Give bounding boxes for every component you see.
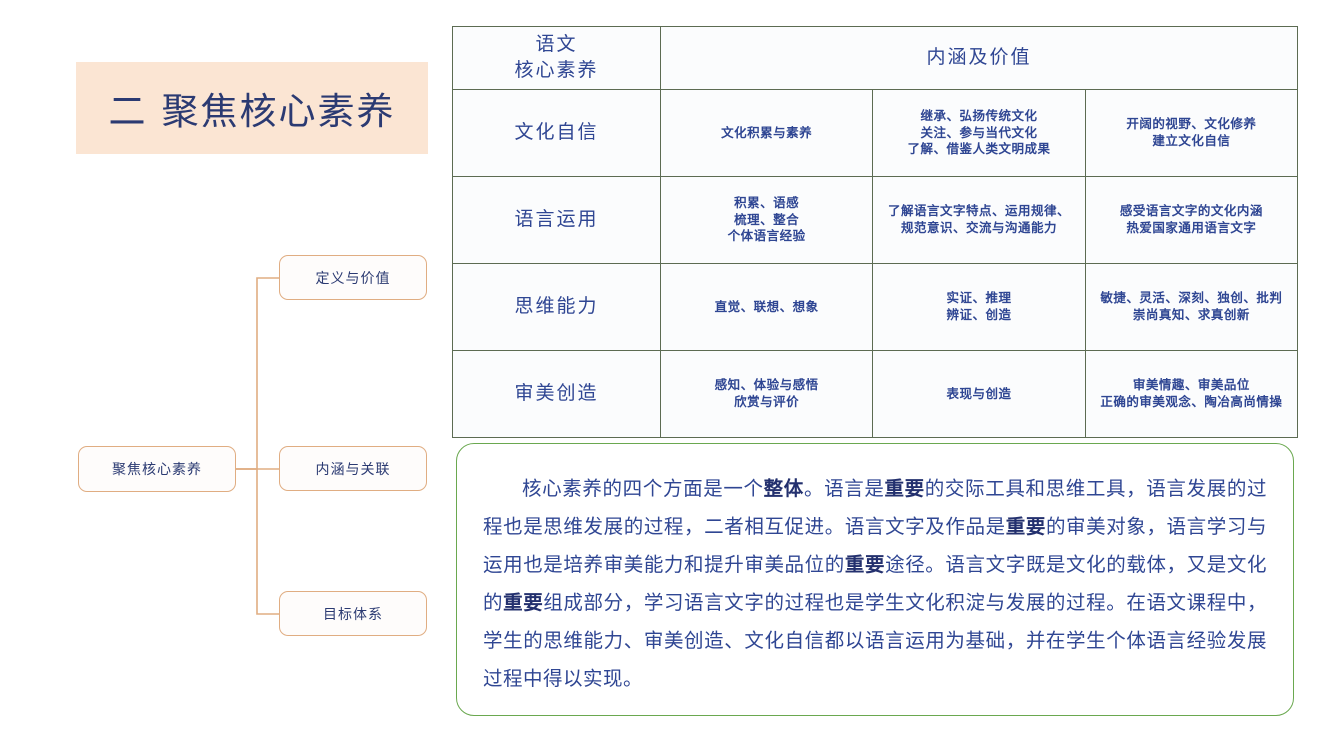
table-header-name-cell: 语文 核心素养 [453,27,661,90]
mindmap-root-node[interactable]: 聚焦核心素养 [78,446,236,492]
summary-paragraph: 核心素养的四个方面是一个整体。语言是重要的交际工具和思维工具，语言发展的过程也是… [483,470,1267,698]
table-cell-aspect-c: 审美情趣、审美品位 正确的审美观念、陶冶高尚情操 [1085,351,1297,438]
cell-line: 敏捷、灵活、深刻、独创、批判 [1092,290,1291,307]
table-cell-literacy-name: 语言运用 [453,177,661,264]
connector-to-definition [236,278,279,469]
cell-line: 个体语言经验 [667,228,866,245]
mindmap-node-goal-system[interactable]: 目标体系 [279,591,427,636]
table-cell-aspect-a: 感知、体验与感悟 欣赏与评价 [661,351,873,438]
mindmap-node-label: 定义与价值 [316,268,391,288]
page-title: 二聚焦核心素养 [109,81,396,135]
table-header-name-lines: 语文 核心素养 [459,32,654,83]
cell-line: 继承、弘扬传统文化 [879,108,1078,125]
cell-line: 建立文化自信 [1092,133,1291,150]
table-body: 语文 核心素养 内涵及价值 文化自信 文化积累与素养 继承、弘扬传统文化 关注、… [453,27,1298,438]
mindmap-node-label: 内涵与关联 [316,459,391,479]
summary-emphasis: 整体 [764,478,804,500]
table-cell-aspect-c: 感受语言文字的文化内涵 热爱国家通用语言文字 [1085,177,1297,264]
connector-to-goals [236,469,279,614]
table-header-row: 语文 核心素养 内涵及价值 [453,27,1298,90]
table-cell-aspect-a: 文化积累与素养 [661,90,873,177]
cell-line: 感知、体验与感悟 [667,377,866,394]
summary-segment: 。语言是 [804,478,885,500]
table-cell-aspect-b: 实证、推理 辨证、创造 [873,264,1085,351]
table-cell-aspect-b: 表现与创造 [873,351,1085,438]
core-literacy-table: 语文 核心素养 内涵及价值 文化自信 文化积累与素养 继承、弘扬传统文化 关注、… [452,26,1298,438]
cell-line: 直觉、联想、想象 [667,299,866,316]
mindmap: 聚焦核心素养 定义与价值 内涵与关联 目标体系 [60,230,460,670]
cell-line: 正确的审美观念、陶冶高尚情操 [1092,394,1291,411]
mindmap-node-connotation[interactable]: 内涵与关联 [279,446,427,491]
cell-line: 崇尚真知、求真创新 [1092,307,1291,324]
cell-line: 积累、语感 [667,195,866,212]
table-header-value-cell: 内涵及价值 [661,27,1298,90]
section-title-banner: 二聚焦核心素养 [76,62,428,154]
cell-line: 热爱国家通用语言文字 [1092,220,1291,237]
table-cell-literacy-name: 思维能力 [453,264,661,351]
cell-line: 表现与创造 [879,386,1078,403]
cell-line: 了解、借鉴人类文明成果 [879,141,1078,158]
table-header-name-line: 语文 [459,32,654,58]
table-header-name-line: 核心素养 [459,58,654,84]
table-cell-aspect-b: 了解语言文字特点、运用规律、 规范意识、交流与沟通能力 [873,177,1085,264]
cell-line: 审美情趣、审美品位 [1092,377,1291,394]
cell-line: 感受语言文字的文化内涵 [1092,203,1291,220]
table-cell-aspect-b: 继承、弘扬传统文化 关注、参与当代文化 了解、借鉴人类文明成果 [873,90,1085,177]
cell-line: 文化积累与素养 [667,125,866,142]
cell-line: 辨证、创造 [879,307,1078,324]
section-title-text: 聚焦核心素养 [162,91,396,132]
summary-emphasis: 重要 [845,554,885,576]
cell-line: 关注、参与当代文化 [879,125,1078,142]
table-cell-aspect-a: 直觉、联想、想象 [661,264,873,351]
table-row: 语言运用 积累、语感 梳理、整合 个体语言经验 了解语言文字特点、运用规律、 规… [453,177,1298,264]
summary-emphasis: 重要 [885,478,925,500]
cell-line: 了解语言文字特点、运用规律、 [879,203,1078,220]
table-cell-aspect-a: 积累、语感 梳理、整合 个体语言经验 [661,177,873,264]
table-cell-aspect-c: 开阔的视野、文化修养 建立文化自信 [1085,90,1297,177]
mindmap-root-label: 聚焦核心素养 [112,459,202,479]
summary-callout-box: 核心素养的四个方面是一个整体。语言是重要的交际工具和思维工具，语言发展的过程也是… [456,443,1294,716]
table-row: 文化自信 文化积累与素养 继承、弘扬传统文化 关注、参与当代文化 了解、借鉴人类… [453,90,1298,177]
table-cell-literacy-name: 文化自信 [453,90,661,177]
cell-line: 梳理、整合 [667,212,866,229]
cell-line: 规范意识、交流与沟通能力 [879,220,1078,237]
cell-line: 实证、推理 [879,290,1078,307]
summary-segment: 组成部分，学习语言文字的过程也是学生文化积淀与发展的过程。在语文课程中，学生的思… [483,592,1267,690]
summary-emphasis: 重要 [1006,516,1046,538]
cell-line: 欣赏与评价 [667,394,866,411]
mindmap-node-definition[interactable]: 定义与价值 [279,255,427,300]
table-cell-literacy-name: 审美创造 [453,351,661,438]
table-row: 思维能力 直觉、联想、想象 实证、推理 辨证、创造 敏捷、灵活、深刻、独创、批判… [453,264,1298,351]
mindmap-node-label: 目标体系 [323,604,383,624]
cell-line: 开阔的视野、文化修养 [1092,116,1291,133]
summary-segment: 核心素养的四个方面是一个 [522,478,764,500]
table-row: 审美创造 感知、体验与感悟 欣赏与评价 表现与创造 审美情趣、审美品位 正确的审… [453,351,1298,438]
table-cell-aspect-c: 敏捷、灵活、深刻、独创、批判 崇尚真知、求真创新 [1085,264,1297,351]
section-number: 二 [109,91,148,132]
summary-emphasis: 重要 [503,592,543,614]
